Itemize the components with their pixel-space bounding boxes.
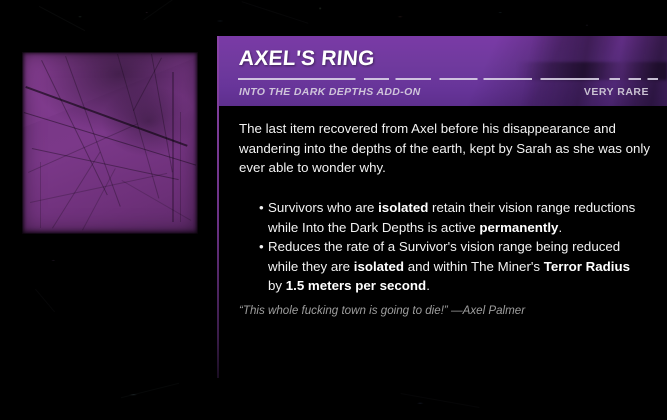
effect-highlight: isolated [354, 259, 404, 274]
background-scratch [401, 393, 480, 408]
effect-plain: by [268, 278, 286, 293]
bullet-glyph: • [259, 198, 268, 218]
flavor-text: The last item recovered from Axel before… [239, 119, 651, 178]
effect-text: Survivors who are isolated retain their … [268, 198, 637, 237]
background-scratch [39, 6, 85, 31]
item-title: AXEL'S RING [238, 47, 376, 71]
addon-card: AXEL'S RING INTO THE DARK DEPTHS ADD-ON … [217, 36, 667, 378]
background-scratch [35, 289, 55, 313]
background-scratch [121, 383, 179, 398]
effect-plain: Survivors who are [268, 200, 378, 215]
effect-plain: and within The Miner's [404, 259, 544, 274]
effect-highlight: 1.5 meters per second [286, 278, 426, 293]
effect-bullet: •Survivors who are isolated retain their… [259, 198, 637, 237]
card-body: The last item recovered from Axel before… [219, 106, 667, 378]
effect-bullet: •Reduces the rate of a Survivor's vision… [259, 237, 637, 296]
background-scratch [143, 0, 176, 20]
effect-text: Reduces the rate of a Survivor's vision … [268, 237, 637, 296]
rarity-label: VERY RARE [584, 86, 649, 98]
card-header: AXEL'S RING INTO THE DARK DEPTHS ADD-ON … [219, 36, 667, 106]
effect-plain: . [426, 278, 430, 293]
bullet-glyph: • [259, 237, 268, 257]
effect-highlight: permanently [479, 220, 558, 235]
item-icon-edge [22, 52, 198, 234]
effect-highlight: Terror Radius [544, 259, 630, 274]
header-divider [238, 78, 658, 80]
effect-plain: . [558, 220, 562, 235]
item-subtitle: INTO THE DARK DEPTHS ADD-ON [239, 86, 421, 98]
item-icon[interactable] [22, 52, 198, 234]
effect-highlight: isolated [378, 200, 428, 215]
background-scratch [242, 1, 309, 24]
quote-text: “This whole fucking town is going to die… [239, 304, 525, 317]
effects-list: •Survivors who are isolated retain their… [259, 198, 637, 296]
